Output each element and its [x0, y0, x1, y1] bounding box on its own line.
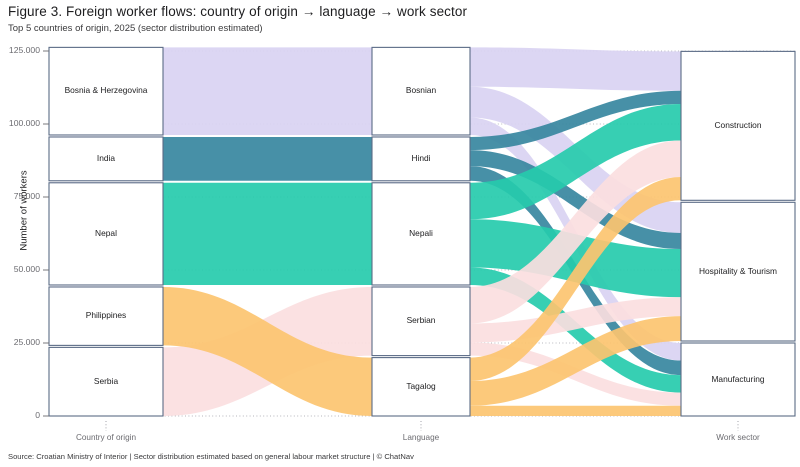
sankey-node — [372, 183, 470, 285]
stage-axis-label: Work sector — [668, 433, 800, 442]
sankey-plot: 025.00050.00075.000100.000125.000Bosnia … — [0, 0, 800, 467]
sankey-node — [49, 137, 163, 181]
y-axis-ticks — [43, 51, 49, 416]
sankey-node — [49, 47, 163, 135]
sankey-nodes — [49, 47, 795, 416]
y-axis-tick-label: 100.000 — [0, 118, 40, 128]
sankey-link — [163, 47, 372, 135]
sankey-link — [470, 47, 681, 90]
y-axis-tick-label: 125.000 — [0, 45, 40, 55]
sankey-node — [372, 47, 470, 135]
sankey-node — [681, 202, 795, 341]
y-axis-tick-label: 0 — [0, 410, 40, 420]
figure-source-note: Source: Croatian Ministry of Interior | … — [8, 452, 414, 461]
sankey-link — [163, 137, 372, 181]
figure-container: Figure 3. Foreign worker flows: country … — [0, 0, 800, 467]
sankey-node — [49, 287, 163, 345]
sankey-link — [163, 183, 372, 285]
sankey-node — [49, 183, 163, 285]
stage-axis-label: Language — [351, 433, 491, 442]
sankey-node — [372, 287, 470, 356]
sankey-svg — [0, 0, 800, 467]
sankey-node — [372, 358, 470, 416]
sankey-node — [681, 343, 795, 416]
sankey-node — [681, 51, 795, 200]
stage-axis-label: Country of origin — [36, 433, 176, 442]
sankey-node — [372, 137, 470, 181]
y-axis-title: Number of workers — [19, 151, 30, 271]
column-tick-marks — [106, 421, 738, 431]
sankey-node — [49, 347, 163, 416]
y-axis-tick-label: 25.000 — [0, 337, 40, 347]
sankey-link — [470, 406, 681, 416]
